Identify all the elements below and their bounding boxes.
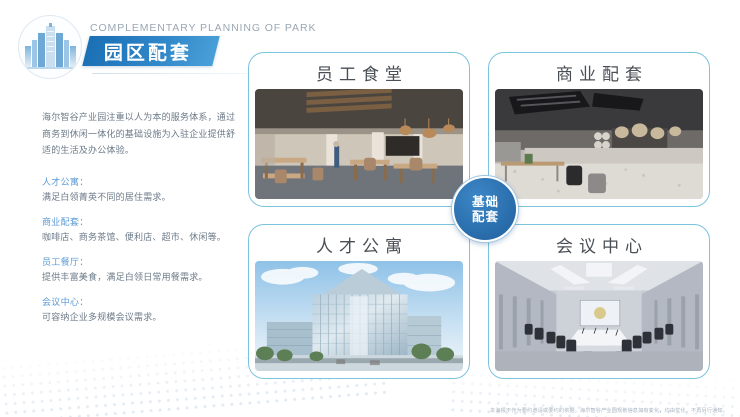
copy-block: 会议中心： 可容纳企业多规模会议需求。 bbox=[42, 296, 236, 327]
apartment-building-photo bbox=[255, 261, 463, 371]
canteen-photo bbox=[255, 89, 463, 199]
copy-block-title: 员工餐厅： bbox=[42, 256, 236, 271]
copy-block-body: 可容纳企业多规模会议需求。 bbox=[42, 311, 236, 327]
copy-block: 商业配套： 咖啡店、商务茶馆、便利店、超市、休闲等。 bbox=[42, 216, 236, 247]
copy-block-body: 提供丰富美食，满足白领日常用餐需求。 bbox=[42, 271, 236, 287]
commercial-lobby-photo bbox=[495, 89, 703, 199]
copy-block-body: 满足白领菁英不同的居住需求。 bbox=[42, 191, 236, 207]
card-label: 人才公寓 bbox=[249, 232, 469, 257]
card-label: 会议中心 bbox=[489, 232, 709, 257]
intro-paragraph: 海尔智谷产业园注重以人为本的服务体系，通过商务到休闲一体化的基础设施为入驻企业提… bbox=[42, 110, 236, 160]
copy-block: 人才公寓： 满足白领菁英不同的居住需求。 bbox=[42, 176, 236, 207]
slide-root: COMPLEMENTARY PLANNING OF PARK 园区配套 海尔智谷… bbox=[0, 0, 740, 417]
copy-block-body: 咖啡店、商务茶馆、便利店、超市、休闲等。 bbox=[42, 231, 236, 247]
facility-card-commercial[interactable]: 商业配套 bbox=[488, 52, 710, 207]
card-label: 员工食堂 bbox=[249, 60, 469, 85]
hub-line-1: 基础 bbox=[471, 194, 499, 210]
hub-badge: 基础 配套 bbox=[452, 176, 518, 242]
conference-hall-photo bbox=[495, 261, 703, 371]
page-title: 园区配套 bbox=[104, 38, 192, 65]
page-title-banner: 园区配套 bbox=[82, 36, 219, 66]
facility-card-apartment[interactable]: 人才公寓 bbox=[248, 224, 470, 379]
header-eyebrow: COMPLEMENTARY PLANNING OF PARK bbox=[90, 22, 316, 34]
copy-block-title: 会议中心： bbox=[42, 296, 236, 311]
left-text-column: 海尔智谷产业园注重以人为本的服务体系，通过商务到休闲一体化的基础设施为入驻企业提… bbox=[42, 110, 236, 336]
disclaimer-text: 本海报不作为要约邀请或要约的依据，海尔智谷产业园规划信息如有变化，均由优化，不再… bbox=[490, 407, 728, 414]
hub-line-2: 配套 bbox=[471, 209, 499, 225]
facility-card-conference[interactable]: 会议中心 bbox=[488, 224, 710, 379]
building-logo-icon bbox=[18, 15, 82, 79]
card-label: 商业配套 bbox=[489, 60, 709, 85]
copy-block-title: 人才公寓： bbox=[42, 176, 236, 191]
copy-block: 员工餐厅： 提供丰富美食，满足白领日常用餐需求。 bbox=[42, 256, 236, 287]
copy-block-title: 商业配套： bbox=[42, 216, 236, 231]
facility-card-canteen[interactable]: 员工食堂 bbox=[248, 52, 470, 207]
